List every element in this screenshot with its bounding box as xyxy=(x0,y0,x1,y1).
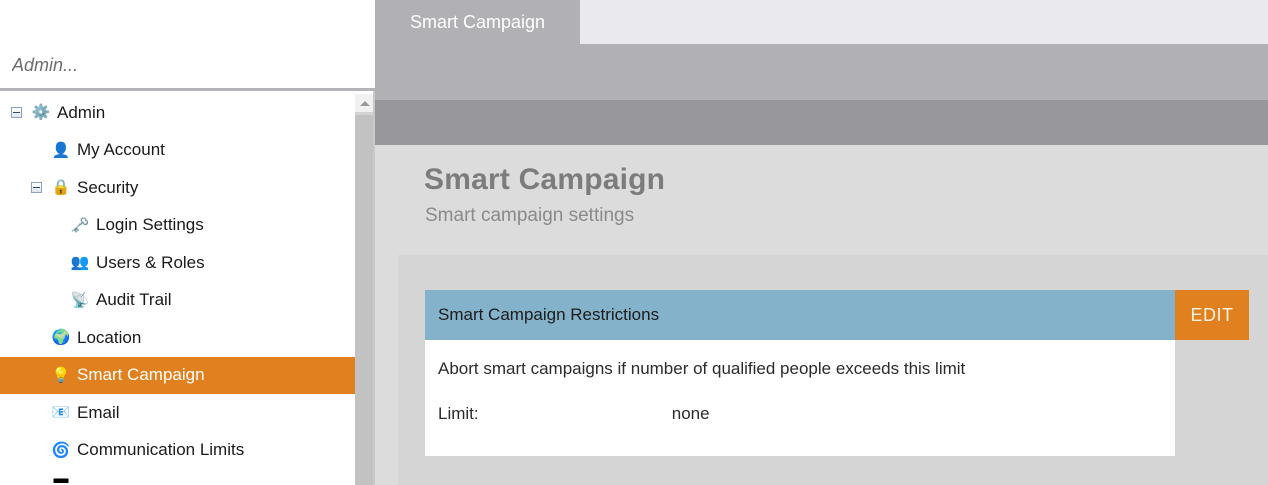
page-title: Smart Campaign xyxy=(424,163,665,197)
key-icon: 🗝️ xyxy=(69,218,91,233)
tree-item-admin[interactable]: ⚙️ Admin xyxy=(0,94,355,132)
panel-header-title: Smart Campaign Restrictions xyxy=(438,305,659,325)
tree-item-label: Audit Trail xyxy=(96,290,172,310)
collapse-toggle-icon[interactable] xyxy=(11,107,22,118)
list-icon: ▬ xyxy=(50,471,72,485)
tree-item-label: Login Settings xyxy=(96,215,204,235)
tree-item-communication-limits[interactable]: 🌀 Communication Limits xyxy=(0,432,355,470)
satellite-icon: 📡 xyxy=(69,293,91,308)
users-icon: 👥 xyxy=(69,255,91,270)
globe-pin-icon: 🌍 xyxy=(50,330,72,345)
tab-bar-filler xyxy=(580,0,1268,44)
gear-icon: ⚙️ xyxy=(30,105,52,120)
admin-sidebar: ⚙️ Admin 👤 My Account 🔒 Security 🗝️ Logi… xyxy=(0,0,375,485)
tree-item-audit-trail[interactable]: 📡 Audit Trail xyxy=(0,282,355,320)
tree-item-smart-campaign[interactable]: 💡 Smart Campaign xyxy=(0,357,355,395)
edit-button-label: EDIT xyxy=(1190,305,1233,326)
admin-tree: ⚙️ Admin 👤 My Account 🔒 Security 🗝️ Logi… xyxy=(0,94,355,485)
sidebar-search-area xyxy=(0,0,375,91)
tree-item-my-account[interactable]: 👤 My Account xyxy=(0,132,355,170)
panel-header: Smart Campaign Restrictions EDIT xyxy=(425,290,1175,340)
content-area: Smart Campaign Restrictions EDIT Abort s… xyxy=(398,255,1268,485)
collapse-toggle-icon[interactable] xyxy=(31,182,42,193)
restriction-description: Abort smart campaigns if number of quali… xyxy=(438,359,965,379)
tree-item-email[interactable]: 📧 Email xyxy=(0,394,355,432)
limit-value: none xyxy=(672,404,710,424)
smart-campaign-restrictions-panel: Smart Campaign Restrictions EDIT Abort s… xyxy=(425,290,1175,456)
application-window: ⚙️ Admin 👤 My Account 🔒 Security 🗝️ Logi… xyxy=(0,0,1268,485)
tree-item-label: Communication Limits xyxy=(77,440,244,460)
chevron-up-icon xyxy=(360,101,370,106)
person-icon: 👤 xyxy=(50,143,72,158)
tree-item-label: Admin xyxy=(57,103,105,123)
tree-item-label: Users & Roles xyxy=(96,253,205,273)
main-content: Smart Campaign Smart Campaign Smart camp… xyxy=(375,0,1268,485)
limit-label: Limit: xyxy=(438,404,667,424)
tree-item-security[interactable]: 🔒 Security xyxy=(0,169,355,207)
tree-item-location[interactable]: 🌍 Location xyxy=(0,319,355,357)
tree-item-label: Email xyxy=(77,403,120,423)
tree-item-partial[interactable]: ▬ xyxy=(0,469,355,485)
tree-item-label: My Account xyxy=(77,140,165,160)
sidebar-scrollbar[interactable] xyxy=(355,94,375,485)
tree-item-users-and-roles[interactable]: 👥 Users & Roles xyxy=(0,244,355,282)
page-subtitle: Smart campaign settings xyxy=(425,205,634,227)
tree-item-label: Smart Campaign xyxy=(77,365,205,385)
sub-header-band xyxy=(375,100,1268,145)
admin-tree-container: ⚙️ Admin 👤 My Account 🔒 Security 🗝️ Logi… xyxy=(0,94,375,485)
page-header: Smart Campaign Smart campaign settings xyxy=(375,145,1268,245)
panel-body: Abort smart campaigns if number of quali… xyxy=(425,340,1175,456)
tree-item-login-settings[interactable]: 🗝️ Login Settings xyxy=(0,207,355,245)
search-input[interactable] xyxy=(12,55,352,76)
lightbulb-icon: 💡 xyxy=(50,368,72,383)
scrollbar-thumb[interactable] xyxy=(355,115,373,485)
tree-item-label: Security xyxy=(77,178,138,198)
tab-bar: Smart Campaign xyxy=(375,0,1268,100)
scroll-up-arrow-icon[interactable] xyxy=(355,94,375,112)
tab-label: Smart Campaign xyxy=(410,12,545,33)
limit-row: Limit: none xyxy=(438,404,1158,424)
edit-button[interactable]: EDIT xyxy=(1175,290,1249,340)
lock-icon: 🔒 xyxy=(50,180,72,195)
email-card-icon: 📧 xyxy=(50,405,72,420)
at-sign-icon: 🌀 xyxy=(50,443,72,458)
tab-smart-campaign[interactable]: Smart Campaign xyxy=(375,0,580,44)
tree-item-label: Location xyxy=(77,328,141,348)
